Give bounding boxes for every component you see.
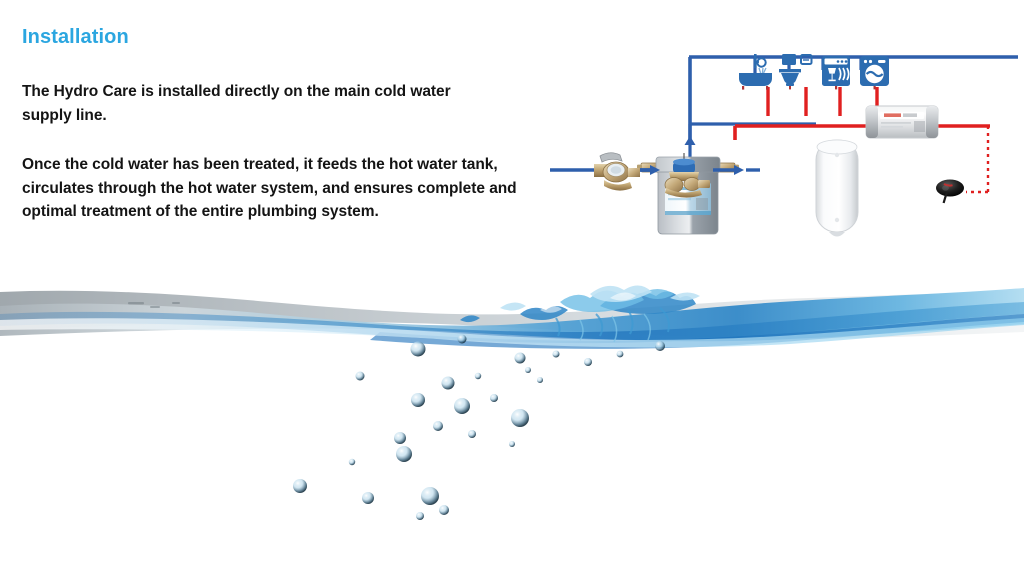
page-title: Installation	[22, 26, 542, 48]
fixture-washing-machine-icon	[860, 56, 889, 89]
water-surface-splash-photo	[0, 258, 1024, 576]
text-content-block: Installation The Hydro Care is installed…	[22, 26, 542, 224]
body-paragraph-1: The Hydro Care is installed directly on …	[22, 80, 492, 127]
slide-canvas: Installation The Hydro Care is installed…	[0, 0, 1024, 576]
sensor-device	[936, 180, 964, 204]
plumbing-installation-diagram	[548, 12, 1024, 262]
hot-water-line	[735, 87, 990, 192]
fixture-toilet-basin-icon	[779, 54, 812, 89]
hot-water-tank	[816, 140, 858, 237]
body-paragraph-2: Once the cold water has been treated, it…	[22, 153, 527, 224]
water-meter	[594, 153, 640, 191]
fixture-dishwasher-icon	[822, 56, 850, 89]
treatment-cartridge	[866, 106, 938, 138]
